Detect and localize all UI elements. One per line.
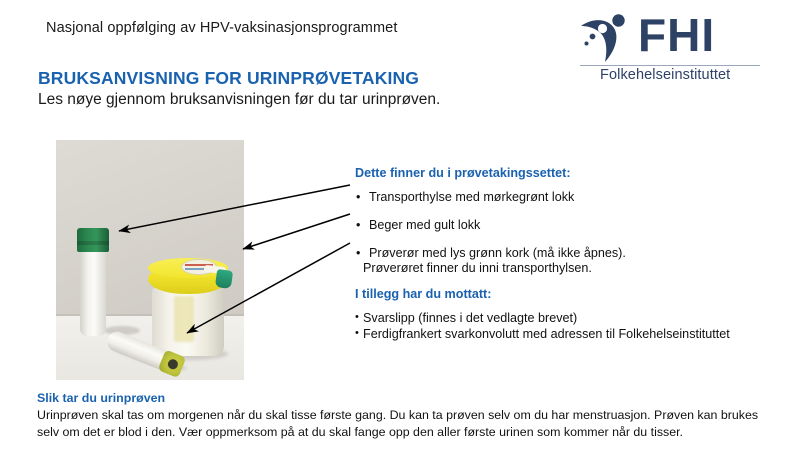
- instruction-sheet-page: Nasjonal oppfølging av HPV-vaksinasjonsp…: [0, 0, 800, 457]
- bullet-icon: •: [355, 327, 359, 341]
- how-to-line-2: selv om det er blod i den. Vær oppmerkso…: [37, 424, 767, 442]
- bullet-icon: •: [356, 246, 360, 262]
- extra-item-2: • Ferdigfrankert svarkonvolutt med adres…: [355, 327, 775, 343]
- kit-item-3-label: Prøverør med lys grønn kork (må ikke åpn…: [369, 246, 626, 260]
- extra-item-2-label: Ferdigfrankert svarkonvolutt med adresse…: [363, 327, 730, 341]
- transport-sleeve-green-cap: [77, 228, 109, 252]
- extra-item-1-label: Svarslipp (finnes i det vedlagte brevet): [363, 311, 577, 325]
- logo-divider: [580, 65, 760, 66]
- arrow-to-specimen-cup: [243, 214, 350, 249]
- bullet-icon: •: [356, 190, 360, 206]
- bullet-icon: •: [356, 218, 360, 234]
- page-title: BRUKSANVISNING FOR URINPRØVETAKING: [38, 68, 419, 89]
- kit-item-2-label: Beger med gult lokk: [369, 218, 480, 232]
- page-header-title: Nasjonal oppfølging av HPV-vaksinasjonsp…: [46, 20, 397, 36]
- kit-contents-callout: Dette finner du i prøvetakingssettet: • …: [355, 166, 775, 343]
- fhi-acronym: FHI: [638, 8, 715, 62]
- transport-sleeve-body: [80, 248, 106, 336]
- specimen-cup-inner-tube: [174, 296, 194, 342]
- fhi-logo: FHI Folkehelseinstituttet: [572, 8, 768, 86]
- kit-contents-heading: Dette finner du i prøvetakingssettet:: [355, 166, 775, 181]
- how-to-line-1: Urinprøven skal tas om morgenen når du s…: [37, 407, 767, 425]
- how-to-heading: Slik tar du urinprøven: [37, 391, 767, 407]
- kit-item-1-label: Transporthylse med mørkegrønt lokk: [369, 190, 574, 204]
- bullet-icon: •: [355, 311, 359, 325]
- kit-item-3-continuation: Prøverøret finner du inni transporthylse…: [355, 261, 775, 277]
- fhi-subtitle: Folkehelseinstituttet: [600, 67, 730, 83]
- urine-sample-kit-photo: [56, 140, 244, 380]
- extra-contents-heading: I tillegg har du mottatt:: [355, 287, 775, 302]
- fhi-figure-icon: [578, 12, 632, 64]
- kit-item-2: • Beger med gult lokk: [355, 218, 775, 234]
- how-to-section: Slik tar du urinprøven Urinprøven skal t…: [37, 391, 767, 442]
- page-subtitle: Les nøye gjennom bruksanvisningen før du…: [38, 91, 440, 109]
- kit-item-1: • Transporthylse med mørkegrønt lokk: [355, 190, 775, 206]
- kit-item-3: • Prøverør med lys grønn kork (må ikke å…: [355, 246, 775, 262]
- extra-item-1: • Svarslipp (finnes i det vedlagte breve…: [355, 311, 775, 327]
